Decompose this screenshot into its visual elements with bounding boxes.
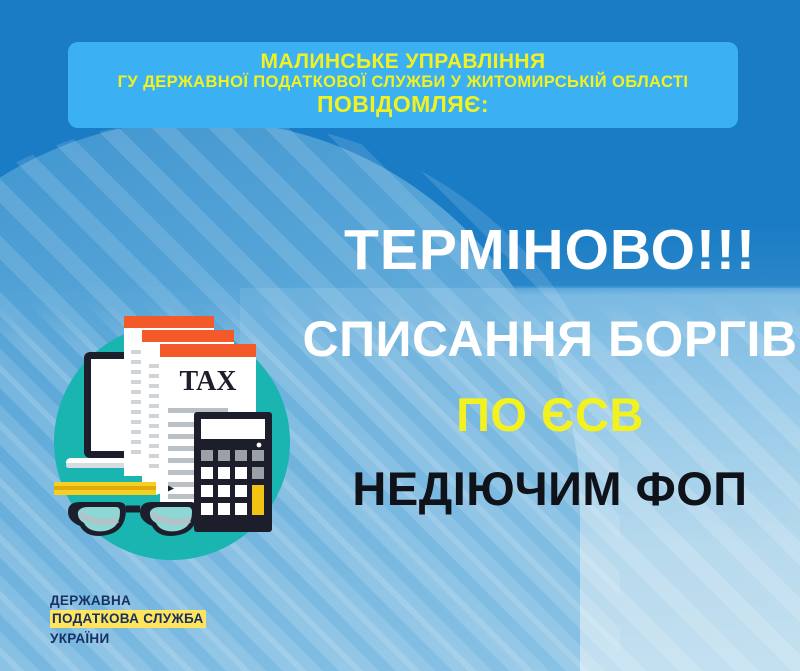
headline-inactive-fop: НЕДІЮЧИМ ФОП <box>300 465 800 512</box>
calculator-icon <box>194 412 272 532</box>
dps-logo: ДЕРЖАВНА ПОДАТКОВА СЛУЖБА УКРАЇНИ <box>50 592 206 647</box>
logo-line-2: ПОДАТКОВА СЛУЖБА <box>50 610 206 627</box>
logo-line-1: ДЕРЖАВНА <box>50 592 206 609</box>
tax-illustration: TAX <box>54 306 308 568</box>
headline-urgent: ТЕРМІНОВО!!! <box>300 222 800 279</box>
poster-canvas: МАЛИНСЬКЕ УПРАВЛІННЯ ГУ ДЕРЖАВНОЇ ПОДАТК… <box>0 0 800 671</box>
pencil-icon <box>54 482 174 495</box>
header-banner: МАЛИНСЬКЕ УПРАВЛІННЯ ГУ ДЕРЖАВНОЇ ПОДАТК… <box>68 42 738 128</box>
headline-debt-writeoff: СПИСАННЯ БОРГІВ <box>300 314 800 364</box>
banner-line-department: ГУ ДЕРЖАВНОЇ ПОДАТКОВОЇ СЛУЖБИ У ЖИТОМИР… <box>118 74 689 92</box>
banner-line-announces: ПОВІДОМЛЯЄ: <box>317 92 489 117</box>
headline-esv: ПО ЄСВ <box>300 391 800 438</box>
headline-block: ТЕРМІНОВО!!! СПИСАННЯ БОРГІВ ПО ЄСВ НЕДІ… <box>300 212 800 542</box>
logo-line-3: УКРАЇНИ <box>50 630 206 647</box>
tax-document-label: TAX <box>179 366 236 397</box>
banner-line-office: МАЛИНСЬКЕ УПРАВЛІННЯ <box>261 51 546 74</box>
